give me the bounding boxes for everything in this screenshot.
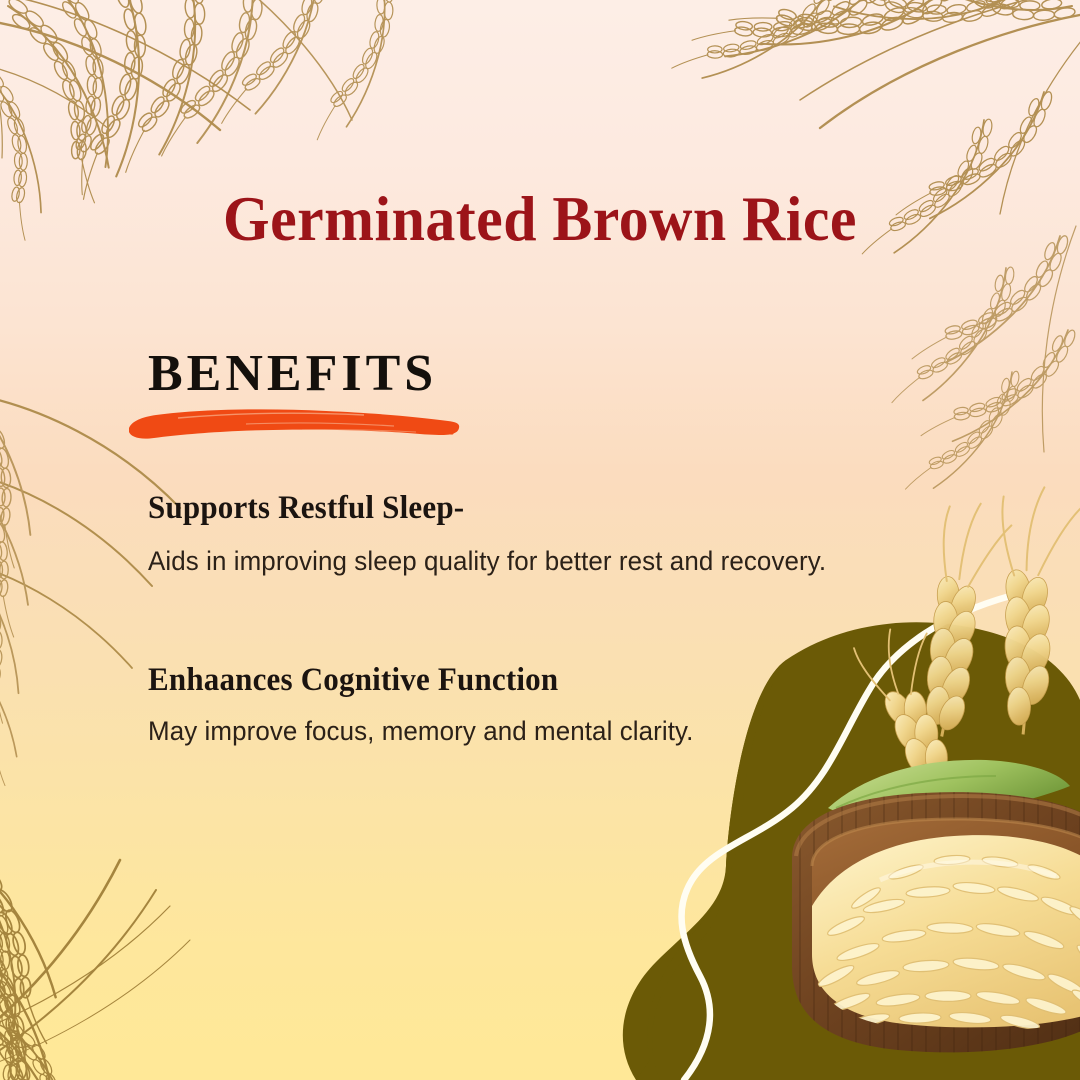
product-photo-composition xyxy=(0,0,1080,1080)
poster-canvas: Germinated Brown Rice BENEFITS Supports … xyxy=(0,0,1080,1080)
